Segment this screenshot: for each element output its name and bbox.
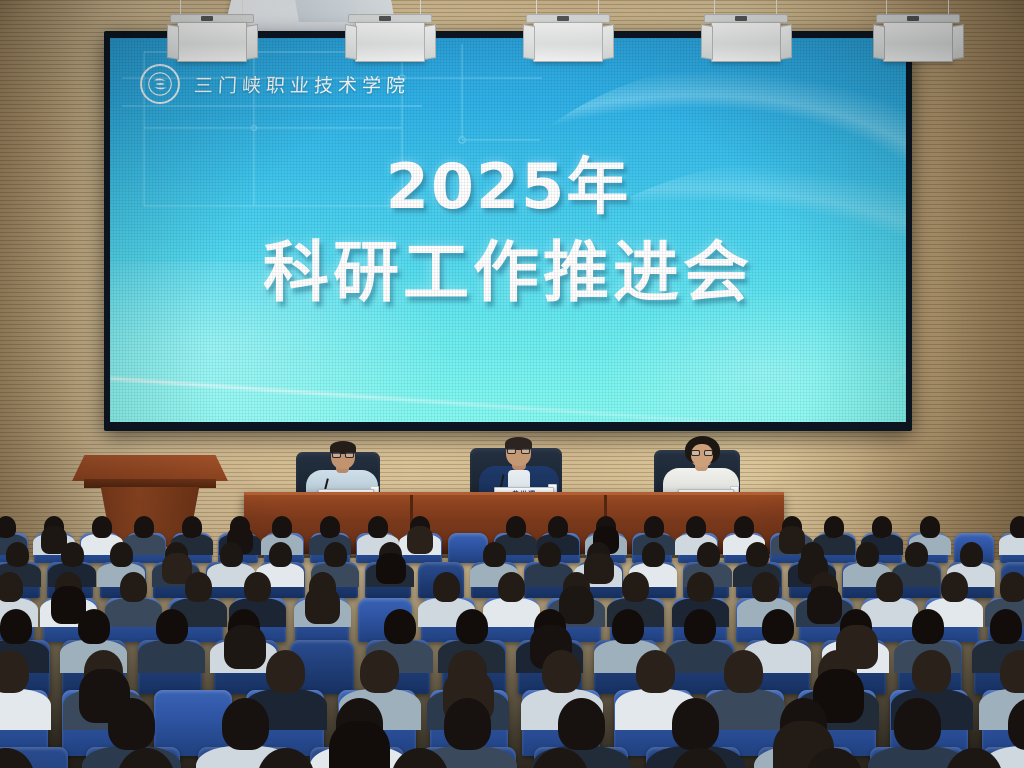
ceiling-light-1 [170, 0, 254, 60]
light-housing [355, 22, 425, 62]
audience-person-head [856, 542, 879, 567]
audience-person-head [483, 542, 506, 567]
light-knob [379, 16, 391, 21]
light-barndoor-left [345, 24, 357, 60]
light-barndoor-left [523, 24, 535, 60]
audience-person-head [320, 516, 340, 538]
audience-person-head [762, 609, 794, 644]
ceiling-light-5 [876, 0, 960, 60]
audience-person-head [548, 516, 568, 538]
led-screen-bezel: 三门峡职业技术学院 2025年 科研工作推进会 [104, 31, 912, 431]
audience-person-head [684, 609, 716, 644]
glasses-right [691, 450, 713, 457]
light-barndoor-right [952, 24, 964, 60]
audience-person-head [244, 572, 271, 602]
audience-person-head [542, 650, 581, 693]
light-barndoor-right [424, 24, 436, 60]
brand-lockup: 三门峡职业技术学院 [140, 64, 410, 104]
audience-person-shoulders [0, 689, 51, 730]
audience-person-head [0, 572, 23, 602]
audience-person-head [644, 516, 664, 538]
audience-person-head [269, 542, 292, 567]
audience-person-head [912, 650, 951, 693]
audience-person-head [558, 698, 605, 750]
light-knob [735, 16, 747, 21]
audience-person-head [876, 572, 903, 602]
audience-person-head [990, 609, 1022, 644]
audience-person-head [384, 609, 416, 644]
audience-person-head [0, 609, 32, 644]
light-barndoor-right [246, 24, 258, 60]
light-housing [533, 22, 603, 62]
light-housing [883, 22, 953, 62]
audience-person-head [134, 516, 154, 538]
audience-person-head [108, 698, 155, 750]
audience-person-head [872, 516, 892, 538]
ceiling-light-4 [704, 0, 788, 60]
audience-person-head [182, 516, 202, 538]
audience-person-head [368, 516, 388, 538]
audience-person-head [894, 698, 941, 750]
screen-title-block: 2025年 科研工作推进会 [110, 156, 906, 306]
led-screen: 三门峡职业技术学院 2025年 科研工作推进会 [110, 38, 906, 422]
school-seal-icon [140, 64, 180, 104]
audience-person-head [92, 516, 112, 538]
audience-person-shoulders [666, 640, 733, 673]
audience-person-head [78, 609, 110, 644]
title-year: 2025年 [110, 156, 906, 218]
light-barndoor-left [873, 24, 885, 60]
audience-person-head [734, 516, 754, 538]
light-barndoor-left [701, 24, 713, 60]
audience-person-head [1000, 572, 1024, 602]
podium-lip [84, 479, 216, 488]
audience-person-head [752, 572, 779, 602]
audience-seat [448, 533, 488, 563]
audience-person-head [672, 698, 719, 750]
audience-person-head [506, 516, 526, 538]
light-knob [907, 16, 919, 21]
podium-top [72, 455, 228, 481]
audience-person-shoulders [105, 598, 162, 627]
title-main: 科研工作推进会 [110, 240, 906, 306]
audience-person-head [324, 542, 347, 567]
audience-person-head [61, 542, 84, 567]
audience-person-head [120, 572, 147, 602]
audience-person-hair [407, 526, 433, 554]
audience-person-head [266, 650, 305, 693]
audience-person-shoulders [138, 640, 205, 673]
audience-person-head [156, 609, 188, 644]
audience-person-shoulders [483, 598, 540, 627]
glasses-center [507, 448, 530, 455]
audience-area [0, 500, 1024, 768]
audience-person-head [6, 542, 29, 567]
audience-person-head [272, 516, 292, 538]
light-housing [177, 22, 247, 62]
audience-person-head [686, 516, 706, 538]
audience-person-head [912, 609, 944, 644]
audience-person-head [642, 542, 665, 567]
audience-person-head [824, 516, 844, 538]
audience-person-head [222, 698, 269, 750]
light-barndoor-right [780, 24, 792, 60]
ceiling-light-2 [348, 0, 432, 60]
audience-person-head [687, 572, 714, 602]
light-housing [711, 22, 781, 62]
glasses-left [332, 452, 354, 459]
audience-person-head [920, 516, 940, 538]
audience-person-head [724, 650, 763, 693]
audience-person-head [220, 542, 243, 567]
light-barndoor-left [167, 24, 179, 60]
audience-person-hair [305, 586, 340, 624]
audience-person-head [433, 572, 460, 602]
audience-person-head [538, 542, 561, 567]
light-knob [557, 16, 569, 21]
audience-person-head [960, 542, 983, 567]
audience-person-head [622, 572, 649, 602]
audience-person-head [941, 572, 968, 602]
brand-name: 三门峡职业技术学院 [193, 71, 410, 98]
audience-person-head [746, 542, 769, 567]
light-knob [201, 16, 213, 21]
audience-person-head [905, 542, 928, 567]
light-barndoor-right [602, 24, 614, 60]
audience-person-head [1010, 516, 1024, 538]
audience-person-head [498, 572, 525, 602]
audience-person-hair [807, 586, 842, 624]
audience-person-head [110, 542, 133, 567]
light-streak-bottom [110, 377, 906, 422]
audience-person-head [636, 650, 675, 693]
audience-person-head [0, 516, 16, 538]
audience-person-head [360, 650, 399, 693]
audience-person-head [456, 609, 488, 644]
audience-person-hair [329, 721, 390, 768]
audience-person-hair [376, 553, 406, 584]
conference-photo: 三门峡职业技术学院 2025年 科研工作推进会 [0, 0, 1024, 768]
audience-person-hair [224, 625, 266, 669]
audience-person-head [185, 572, 212, 602]
audience-person-head [612, 609, 644, 644]
ceiling-light-3 [526, 0, 610, 60]
audience-person-head [444, 698, 491, 750]
audience-person-head [697, 542, 720, 567]
